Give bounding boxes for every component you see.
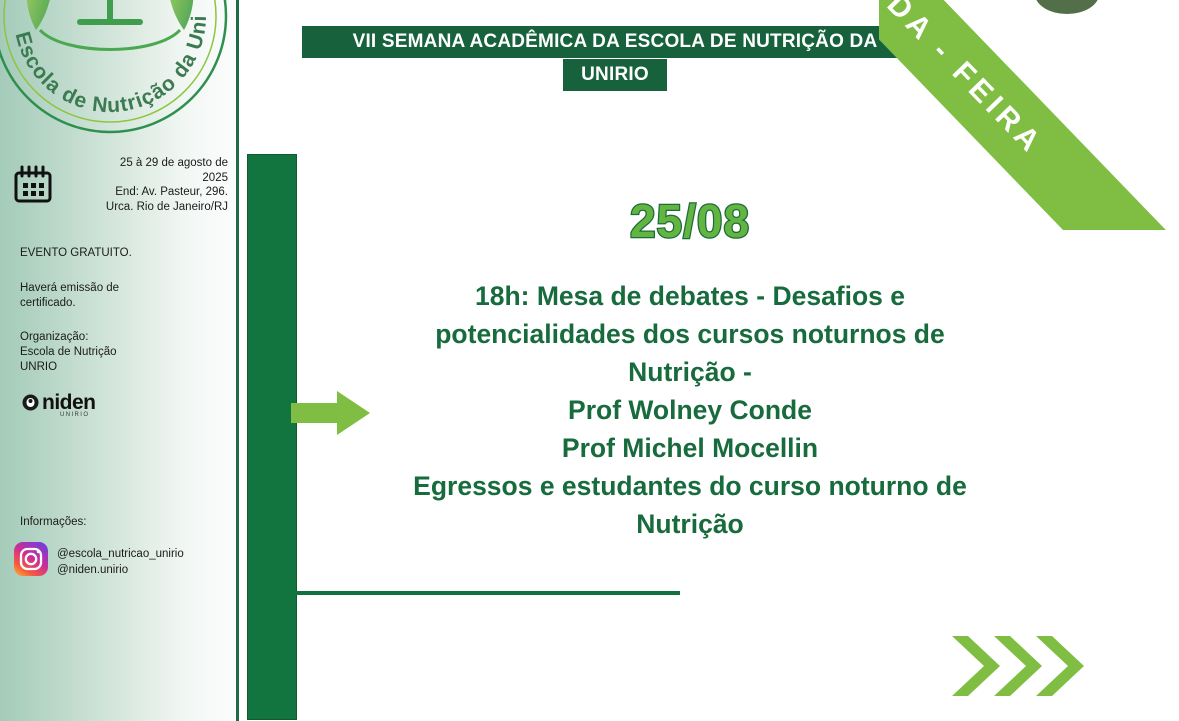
- certificate-note: Haverá emissão de certificado.: [20, 281, 220, 311]
- escola-nutricao-logo: Escola de Nutrição da Unirio: [0, 0, 236, 142]
- instagram-row[interactable]: @escola_nutricao_unirio @niden.unirio: [14, 542, 184, 581]
- niden-subtext: UNIRIO: [60, 412, 89, 418]
- instagram-handle-escola[interactable]: @escola_nutricao_unirio: [57, 546, 184, 562]
- session-details: 18h: Mesa de debates - Desafios e potenc…: [330, 277, 1050, 543]
- scale-wheat-emblem-icon: Escola de Nutrição da Unirio: [0, 0, 236, 142]
- event-address-line1: End: Av. Pasteur, 296.: [62, 185, 228, 200]
- organization-line2: UNRIO: [20, 360, 220, 375]
- speaker-michel-mocellin: Prof Michel Mocellin: [330, 429, 1050, 467]
- calendar-icon: [12, 164, 54, 211]
- speaker-wolney-conde: Prof Wolney Conde: [330, 391, 1050, 429]
- session-line-7: Nutrição: [330, 505, 1050, 543]
- sidebar-panel: Escola de Nutrição da Unirio: [0, 0, 238, 721]
- session-line-6: Egressos e estudantes do curso noturno d…: [330, 467, 1050, 505]
- sidebar-divider: [236, 0, 239, 721]
- session-line-1: 18h: Mesa de debates - Desafios e: [330, 277, 1050, 315]
- free-event-note: EVENTO GRATUITO.: [20, 246, 220, 261]
- instagram-handles: @escola_nutricao_unirio @niden.unirio: [57, 546, 184, 578]
- session-line-3: Nutrição -: [330, 353, 1050, 391]
- organization-line1: Escola de Nutrição: [20, 345, 220, 360]
- event-date-block: 25 à 29 de agosto de 2025 End: Av. Paste…: [12, 156, 228, 214]
- niden-wordmark: niden: [42, 392, 96, 413]
- organization-block: Organização: Escola de Nutrição UNRIO: [20, 330, 220, 375]
- header-line-1: VII SEMANA ACADÊMICA DA ESCOLA DE NUTRIÇ…: [302, 26, 928, 58]
- ribbon-dot-decor: [1035, 0, 1099, 14]
- session-line-2: potencialidades dos cursos noturnos de: [330, 315, 1050, 353]
- info-label: Informações:: [20, 515, 220, 530]
- event-address-line2: Urca. Rio de Janeiro/RJ: [62, 200, 228, 215]
- header-line-2: UNIRIO: [563, 59, 667, 91]
- vertical-green-bar: [247, 154, 297, 720]
- section-divider-rule: [295, 591, 680, 595]
- niden-logo: niden: [22, 392, 96, 413]
- instagram-handle-niden[interactable]: @niden.unirio: [57, 562, 184, 578]
- chevrons-right-icon: [952, 634, 1084, 698]
- niden-mark-icon: [22, 394, 39, 411]
- event-date-headline: 25/08: [330, 196, 1050, 246]
- event-dates: 25 à 29 de agosto de 2025: [62, 156, 228, 185]
- date-address-text: 25 à 29 de agosto de 2025 End: Av. Paste…: [62, 156, 228, 214]
- event-poster: Escola de Nutrição da Unirio: [0, 0, 1179, 721]
- instagram-icon[interactable]: [14, 542, 48, 581]
- organization-label: Organização:: [20, 330, 220, 345]
- poster-header-banner: VII SEMANA ACADÊMICA DA ESCOLA DE NUTRIÇ…: [302, 26, 928, 91]
